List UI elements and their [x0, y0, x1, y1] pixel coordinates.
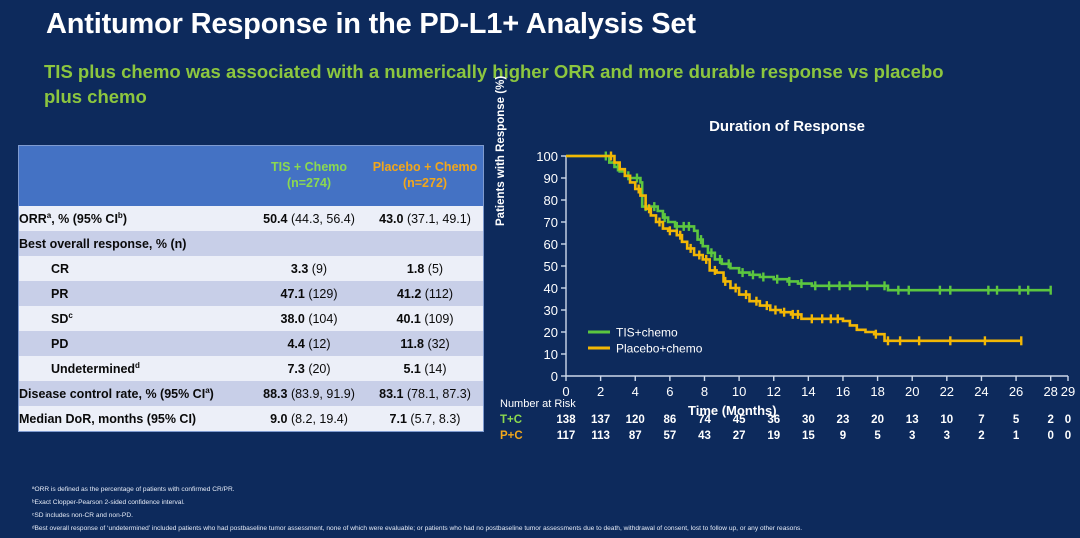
- table-row-label: Disease control rate, % (95% CIa): [19, 381, 251, 406]
- footnote: ᵈBest overall response of ‘undetermined’…: [32, 523, 1072, 536]
- table-row: Best overall response, % (n): [19, 231, 483, 256]
- table-cell-tis: 50.4 (44.3, 56.4): [251, 206, 367, 231]
- risk-value: 7: [968, 414, 994, 426]
- table-cell-tis: 47.1 (129): [251, 281, 367, 306]
- x-tick-label: 16: [836, 384, 850, 399]
- table-cell-tis: 9.0 (8.2, 19.4): [251, 406, 367, 431]
- y-tick-label: 70: [544, 215, 558, 230]
- table-cell-placebo: 40.1 (109): [367, 306, 483, 331]
- risk-value: 45: [726, 414, 752, 426]
- table-header-blank: [19, 146, 251, 206]
- table-row: Median DoR, months (95% CI)9.0 (8.2, 19.…: [19, 406, 483, 431]
- chart-title: Duration of Response: [498, 118, 1076, 135]
- table-row-label: Undeterminedd: [19, 356, 251, 381]
- page-title: Antitumor Response in the PD-L1+ Analysi…: [46, 8, 696, 41]
- table-row-label: ORRa, % (95% CIb): [19, 206, 251, 231]
- x-tick-label: 0: [562, 384, 569, 399]
- legend-label: Placebo+chemo: [616, 342, 703, 356]
- risk-value: 13: [899, 414, 925, 426]
- number-at-risk-table: Number at Risk T+C1381371208674453630232…: [500, 398, 1080, 458]
- y-tick-label: 50: [544, 259, 558, 274]
- x-tick-label: 22: [940, 384, 954, 399]
- table-header-placebo-chemo: Placebo + Chemo(n=272): [367, 146, 483, 206]
- slide-root: Antitumor Response in the PD-L1+ Analysi…: [0, 0, 1080, 538]
- x-tick-label: 12: [766, 384, 780, 399]
- risk-value: 2: [968, 430, 994, 442]
- risk-value: 1: [1003, 430, 1029, 442]
- risk-value: 87: [622, 430, 648, 442]
- y-tick-label: 80: [544, 193, 558, 208]
- risk-value: 20: [865, 414, 891, 426]
- page-subtitle: TIS plus chemo was associated with a num…: [44, 60, 944, 110]
- risk-value: 5: [865, 430, 891, 442]
- x-tick-label: 18: [870, 384, 884, 399]
- risk-value: 5: [1003, 414, 1029, 426]
- risk-value: 86: [657, 414, 683, 426]
- table-row: PR47.1 (129)41.2 (112): [19, 281, 483, 306]
- risk-value: 10: [934, 414, 960, 426]
- table-cell-tis: 88.3 (83.9, 91.9): [251, 381, 367, 406]
- footnote: ªORR is defined as the percentage of pat…: [32, 484, 1072, 497]
- risk-value: 3: [934, 430, 960, 442]
- x-tick-label: 24: [974, 384, 988, 399]
- risk-value: 36: [761, 414, 787, 426]
- table-cell-tis: 38.0 (104): [251, 306, 367, 331]
- x-tick-label: 14: [801, 384, 815, 399]
- x-tick-label: 28: [1043, 384, 1057, 399]
- x-tick-label: 10: [732, 384, 746, 399]
- x-tick-label: 20: [905, 384, 919, 399]
- risk-value: 120: [622, 414, 648, 426]
- risk-value: 0: [1055, 430, 1080, 442]
- table-cell-tis: [251, 231, 367, 256]
- risk-row: P+C11711387574327191595332100: [500, 430, 1080, 446]
- table-cell-placebo: 7.1 (5.7, 8.3): [367, 406, 483, 431]
- x-tick-label: 8: [701, 384, 708, 399]
- x-tick-label: 6: [666, 384, 673, 399]
- table-cell-placebo: 11.8 (32): [367, 331, 483, 356]
- risk-value: 113: [588, 430, 614, 442]
- risk-value: 9: [830, 430, 856, 442]
- footnote: ᶜSD includes non-CR and non-PD.: [32, 510, 1072, 523]
- table-cell-placebo: 1.8 (5): [367, 256, 483, 281]
- risk-value: 117: [553, 430, 579, 442]
- table-cell-tis: 4.4 (12): [251, 331, 367, 356]
- table-cell-placebo: 5.1 (14): [367, 356, 483, 381]
- response-table: TIS + Chemo(n=274)Placebo + Chemo(n=272)…: [18, 145, 484, 432]
- table-cell-placebo: 83.1 (78.1, 87.3): [367, 381, 483, 406]
- km-plot: 0102030405060708090100024681012141618202…: [498, 136, 1076, 406]
- table-row-label: SDc: [19, 306, 251, 331]
- number-at-risk-title: Number at Risk: [500, 398, 576, 410]
- x-tick-label: 29: [1061, 384, 1075, 399]
- y-tick-label: 30: [544, 303, 558, 318]
- km-curve: [566, 156, 1051, 290]
- x-tick-label: 2: [597, 384, 604, 399]
- x-tick-label: 26: [1009, 384, 1023, 399]
- risk-value: 27: [726, 430, 752, 442]
- table-cell-tis: 7.3 (20): [251, 356, 367, 381]
- table-header-tis-chemo: TIS + Chemo(n=274): [251, 146, 367, 206]
- footnote: ᵇExact Clopper-Pearson 2-sided confidenc…: [32, 497, 1072, 510]
- risk-value: 57: [657, 430, 683, 442]
- table-row-label: Median DoR, months (95% CI): [19, 406, 251, 431]
- table-cell-tis: 3.3 (9): [251, 256, 367, 281]
- table-header-row: TIS + Chemo(n=274)Placebo + Chemo(n=272): [19, 146, 483, 206]
- table-row: CR3.3 (9)1.8 (5): [19, 256, 483, 281]
- risk-value: 138: [553, 414, 579, 426]
- y-tick-label: 20: [544, 325, 558, 340]
- table-row: Undeterminedd7.3 (20)5.1 (14): [19, 356, 483, 381]
- risk-value: 19: [761, 430, 787, 442]
- table-row: PD4.4 (12)11.8 (32): [19, 331, 483, 356]
- table-row: SDc38.0 (104)40.1 (109): [19, 306, 483, 331]
- risk-value: 74: [691, 414, 717, 426]
- risk-row-label: P+C: [500, 430, 523, 442]
- risk-row: T+C1381371208674453630232013107520: [500, 414, 1080, 430]
- y-tick-label: 60: [544, 237, 558, 252]
- footnotes: ªORR is defined as the percentage of pat…: [32, 484, 1072, 535]
- risk-row-label: T+C: [500, 414, 522, 426]
- risk-value: 3: [899, 430, 925, 442]
- table-row-label: PD: [19, 331, 251, 356]
- y-tick-label: 40: [544, 281, 558, 296]
- risk-value: 23: [830, 414, 856, 426]
- y-tick-label: 90: [544, 171, 558, 186]
- table-cell-placebo: 43.0 (37.1, 49.1): [367, 206, 483, 231]
- table-row: Disease control rate, % (95% CIa)88.3 (8…: [19, 381, 483, 406]
- risk-value: 43: [691, 430, 717, 442]
- y-tick-label: 10: [544, 347, 558, 362]
- table-row: ORRa, % (95% CIb)50.4 (44.3, 56.4)43.0 (…: [19, 206, 483, 231]
- risk-value: 0: [1055, 414, 1080, 426]
- table-row-label: Best overall response, % (n): [19, 231, 251, 256]
- table-row-label: CR: [19, 256, 251, 281]
- x-tick-label: 4: [632, 384, 639, 399]
- risk-value: 30: [795, 414, 821, 426]
- y-tick-label: 0: [551, 369, 558, 384]
- risk-value: 137: [588, 414, 614, 426]
- risk-value: 15: [795, 430, 821, 442]
- y-tick-label: 100: [536, 149, 558, 164]
- table-row-label: PR: [19, 281, 251, 306]
- legend-label: TIS+chemo: [616, 326, 678, 340]
- table-cell-placebo: [367, 231, 483, 256]
- table-cell-placebo: 41.2 (112): [367, 281, 483, 306]
